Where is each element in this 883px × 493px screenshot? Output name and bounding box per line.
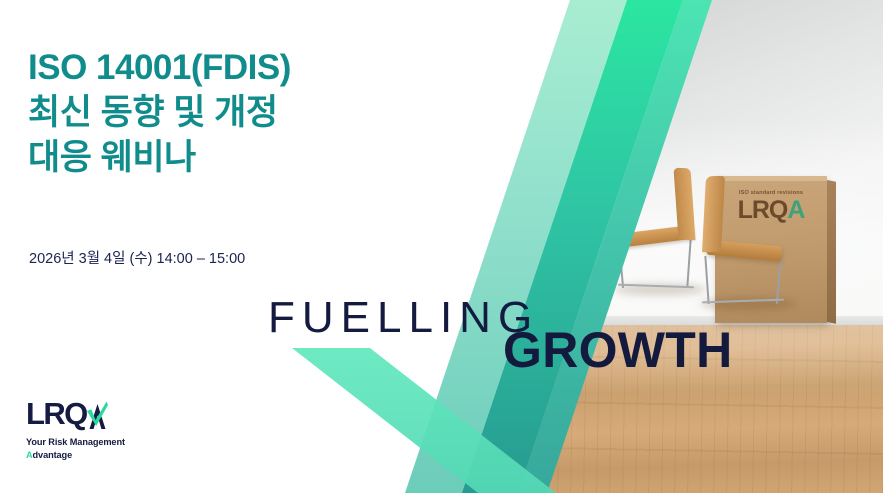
- tagline-fuelling: FUELLING: [268, 296, 539, 340]
- webinar-banner: ISO standard revisions LRQA: [0, 0, 883, 493]
- lrqa-logo: LRQ Your Risk Management Advantage: [26, 398, 125, 462]
- lrqa-letters: LRQ: [26, 396, 87, 431]
- event-datetime: 2026년 3월 4일 (수) 14:00 – 15:00: [29, 247, 245, 268]
- tagline-growth: GROWTH: [503, 325, 733, 375]
- lrqa-check-a-icon: [87, 398, 108, 429]
- lrqa-tagline-rest: dvantage: [33, 450, 73, 460]
- lrqa-wordmark: LRQ: [26, 398, 125, 429]
- page-title: ISO 14001(FDIS) 최신 동향 및 개정 대응 웨비나: [28, 46, 428, 180]
- lrqa-tagline-line2: Advantage: [26, 449, 125, 462]
- lrqa-tagline: Your Risk Management Advantage: [26, 436, 125, 462]
- lrqa-tagline-line1: Your Risk Management: [26, 436, 125, 449]
